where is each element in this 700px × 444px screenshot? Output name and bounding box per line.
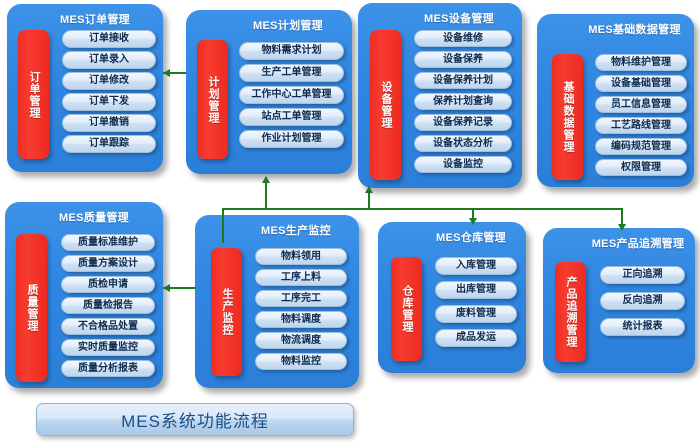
list-item[interactable]: 物料维护管理 [595,54,687,71]
item-list-order: 订单接收 订单录入 订单修改 订单下发 订单撤销 订单跟踪 [62,30,156,153]
list-item[interactable]: 订单跟踪 [62,135,156,153]
connector-bus-to-equipment [368,190,370,210]
panel-warehouse-management[interactable]: MES仓库管理 仓库管理 入库管理 出库管理 废料管理 成品发运 [378,222,526,373]
list-item[interactable]: 实时质量监控 [61,339,155,356]
category-block-trace[interactable]: 产品追溯管理 [555,262,586,362]
category-block-plan[interactable]: 计划管理 [197,40,228,159]
list-item[interactable]: 工序上料 [255,269,347,286]
list-item[interactable]: 订单录入 [62,51,156,69]
list-item[interactable]: 质量标准维护 [61,234,155,251]
list-item[interactable]: 站点工单管理 [239,108,344,126]
list-item[interactable]: 订单接收 [62,30,156,48]
list-item[interactable]: 权限管理 [595,159,687,176]
list-item[interactable]: 设备保养记录 [414,114,512,131]
list-item[interactable]: 物料领用 [255,248,347,265]
list-item[interactable]: 设备维修 [414,30,512,47]
list-item[interactable]: 设备保养计划 [414,72,512,89]
list-item[interactable]: 不合格品处置 [61,318,155,335]
panel-title-plan: MES计划管理 [230,17,346,33]
list-item[interactable]: 设备基础管理 [595,75,687,92]
category-label-production: 生产监控 [220,288,233,336]
list-item[interactable]: 物流调度 [255,332,347,349]
arrow-head-bus-to-warehouse [469,218,477,225]
list-item[interactable]: 统计报表 [600,318,685,336]
item-list-trace: 正向追溯 反向追溯 统计报表 [600,266,685,336]
list-item[interactable]: 编码规范管理 [595,138,687,155]
list-item[interactable]: 正向追溯 [600,266,685,284]
item-list-plan: 物料需求计划 生产工单管理 工作中心工单管理 站点工单管理 作业计划管理 [239,42,344,148]
list-item[interactable]: 设备保养 [414,51,512,68]
list-item[interactable]: 质量分析报表 [61,360,155,377]
arrow-head-production-to-quality [163,284,170,292]
arrow-head-plan-to-order [163,69,170,77]
category-label-order: 订单管理 [27,71,40,119]
list-item[interactable]: 员工信息管理 [595,96,687,113]
item-list-production: 物料领用 工序上料 工序完工 物料调度 物流调度 物料监控 [255,248,347,370]
item-list-basedata: 物料维护管理 设备基础管理 员工信息管理 工艺路线管理 编码规范管理 权限管理 [595,54,687,176]
list-item[interactable]: 物料需求计划 [239,42,344,60]
item-list-equipment: 设备维修 设备保养 设备保养计划 保养计划查询 设备保养记录 设备状态分析 设备… [414,30,512,173]
list-item[interactable]: 工作中心工单管理 [239,86,344,104]
panel-title-order: MES订单管理 [33,11,157,27]
list-item[interactable]: 反向追溯 [600,292,685,310]
panel-title-basedata: MES基础数据管理 [581,21,688,37]
panel-title-production: MES生产监控 [239,222,353,238]
panel-quality-management[interactable]: MES质量管理 质量管理 质量标准维护 质量方案设计 质检申请 质量检报告 不合… [5,202,163,388]
item-list-warehouse: 入库管理 出库管理 废料管理 成品发运 [435,257,517,347]
category-label-warehouse: 仓库管理 [400,285,413,333]
footer-label: MES系统功能流程 [121,407,269,432]
category-label-trace: 产品追溯管理 [564,276,577,348]
footer-banner: MES系统功能流程 [36,403,354,436]
category-label-quality: 质量管理 [25,284,38,332]
list-item[interactable]: 订单修改 [62,72,156,90]
list-item[interactable]: 订单下发 [62,93,156,111]
panel-title-quality: MES质量管理 [31,209,157,225]
mes-function-flow-diagram: MES订单管理 订单管理 订单接收 订单录入 订单修改 订单下发 订单撤销 订单… [0,0,700,444]
list-item[interactable]: 生产工单管理 [239,64,344,82]
category-block-basedata[interactable]: 基础数据管理 [552,54,583,180]
panel-production-monitoring[interactable]: MES生产监控 生产监控 物料领用 工序上料 工序完工 物料调度 物流调度 物料… [195,215,359,388]
list-item[interactable]: 设备状态分析 [414,135,512,152]
list-item[interactable]: 入库管理 [435,257,517,275]
list-item[interactable]: 质量方案设计 [61,255,155,272]
category-block-warehouse[interactable]: 仓库管理 [391,257,422,361]
panel-title-warehouse: MES仓库管理 [422,229,520,245]
list-item[interactable]: 工艺路线管理 [595,117,687,134]
list-item[interactable]: 工序完工 [255,290,347,307]
category-block-equipment[interactable]: 设备管理 [370,30,401,180]
list-item[interactable]: 质量检报告 [61,297,155,314]
panel-order-management[interactable]: MES订单管理 订单管理 订单接收 订单录入 订单修改 订单下发 订单撤销 订单… [7,4,163,172]
list-item[interactable]: 保养计划查询 [414,93,512,110]
connector-bus-main [222,208,622,210]
connector-production-riser [222,208,224,243]
list-item[interactable]: 订单撤销 [62,114,156,132]
arrow-head-bus-to-equipment [365,186,373,193]
category-block-order[interactable]: 订单管理 [18,30,49,159]
list-item[interactable]: 出库管理 [435,281,517,299]
list-item[interactable]: 物料监控 [255,353,347,370]
panel-title-trace: MES产品追溯管理 [587,235,689,251]
list-item[interactable]: 质检申请 [61,276,155,293]
arrow-head-bus-to-traceability [618,224,626,231]
list-item[interactable]: 物料调度 [255,311,347,328]
category-label-plan: 计划管理 [206,76,219,124]
category-label-equipment: 设备管理 [379,81,392,129]
list-item[interactable]: 作业计划管理 [239,130,344,148]
list-item[interactable]: 废料管理 [435,305,517,323]
item-list-quality: 质量标准维护 质量方案设计 质检申请 质量检报告 不合格品处置 实时质量监控 质… [61,234,155,377]
panel-product-traceability[interactable]: MES产品追溯管理 产品追溯管理 正向追溯 反向追溯 统计报表 [543,228,695,373]
list-item[interactable]: 设备监控 [414,156,512,173]
panel-equipment-management[interactable]: MES设备管理 设备管理 设备维修 设备保养 设备保养计划 保养计划查询 设备保… [358,3,522,188]
panel-title-equipment: MES设备管理 [402,10,516,26]
arrow-head-bus-to-plan [262,176,270,183]
panel-plan-management[interactable]: MES计划管理 计划管理 物料需求计划 生产工单管理 工作中心工单管理 站点工单… [186,10,352,174]
category-label-basedata: 基础数据管理 [561,81,574,153]
panel-base-data-management[interactable]: MES基础数据管理 基础数据管理 物料维护管理 设备基础管理 员工信息管理 工艺… [537,14,694,187]
category-block-quality[interactable]: 质量管理 [16,234,47,382]
category-block-production[interactable]: 生产监控 [211,248,242,376]
list-item[interactable]: 成品发运 [435,329,517,347]
connector-bus-to-plan [265,180,267,210]
